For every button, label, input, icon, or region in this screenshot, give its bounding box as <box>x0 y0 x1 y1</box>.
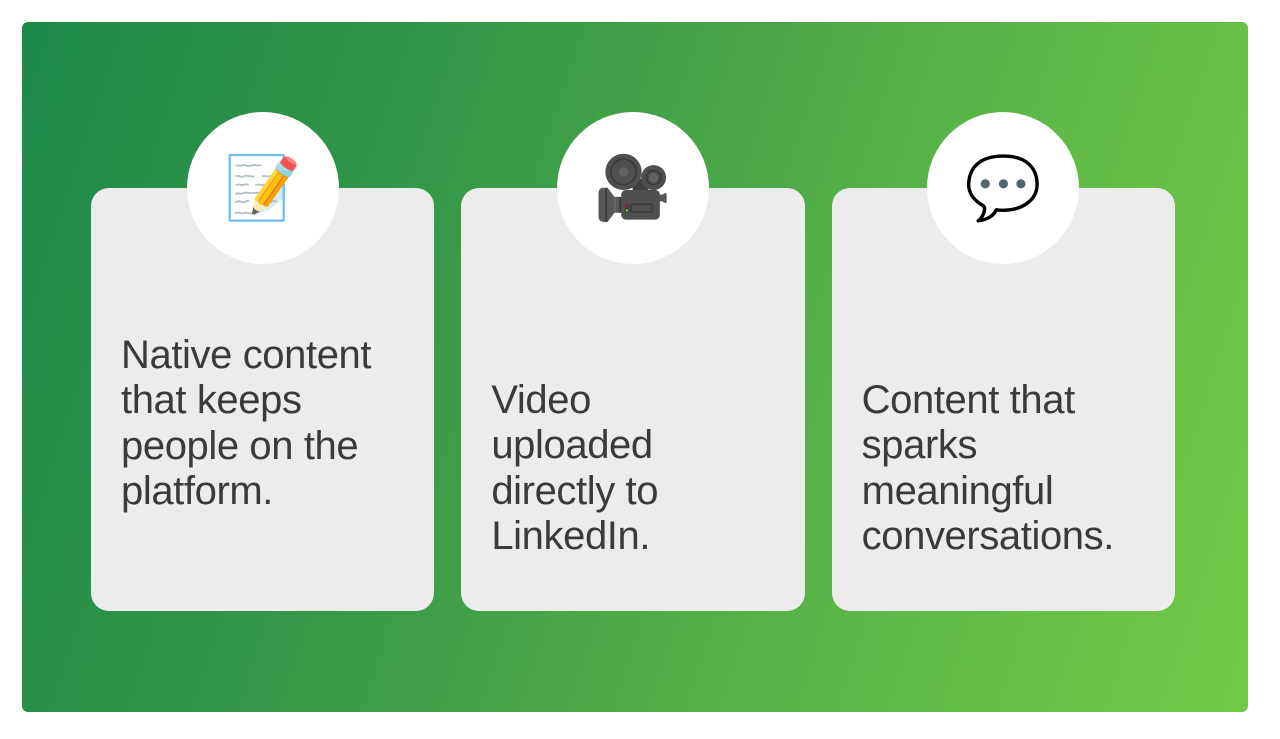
movie-camera-icon: 🎥 <box>594 157 671 219</box>
feature-card-conversations[interactable]: 💬 Content that sparks meaningful convers… <box>832 188 1175 611</box>
card-grid: 📝 Native content that keeps people on th… <box>91 188 1175 611</box>
feature-card-video-upload[interactable]: 🎥 Video uploaded directly to LinkedIn. <box>461 188 804 611</box>
icon-badge: 💬 <box>927 112 1079 264</box>
gradient-canvas: 📝 Native content that keeps people on th… <box>22 22 1248 712</box>
feature-card-native-content[interactable]: 📝 Native content that keeps people on th… <box>91 188 434 611</box>
speech-balloon-icon: 💬 <box>965 157 1042 219</box>
icon-badge: 📝 <box>187 112 339 264</box>
slide-frame: 📝 Native content that keeps people on th… <box>0 0 1280 739</box>
icon-badge: 🎥 <box>557 112 709 264</box>
memo-icon: 📝 <box>224 157 301 219</box>
